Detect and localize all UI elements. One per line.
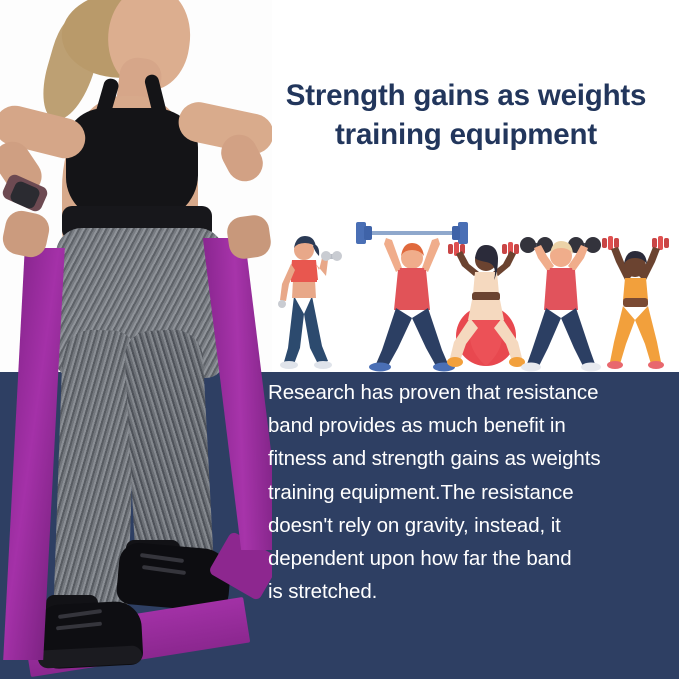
- body-line-5: doesn't rely on gravity, instead, it: [268, 509, 672, 542]
- figure-woman-dumbbell-curl: [278, 236, 342, 369]
- headline: Strength gains as weights training equip…: [264, 76, 668, 154]
- body-line-6: dependent upon how far the band: [268, 542, 672, 575]
- body-text-block: Research has proven that resistance band…: [268, 376, 672, 608]
- dumbbell-icon-1: [321, 251, 342, 261]
- body-line-1: Research has proven that resistance: [268, 376, 672, 409]
- model-hand-right: [225, 213, 272, 260]
- body-line-2: band provides as much benefit in: [268, 409, 672, 442]
- fitness-figures-svg: [278, 214, 679, 374]
- figure-man-shoulder-press: [520, 237, 601, 372]
- barbell-icon: [356, 222, 468, 244]
- headline-line-1: Strength gains as weights: [264, 76, 668, 115]
- body-line-3: fitness and strength gains as weights: [268, 442, 672, 475]
- model-photo: [0, 0, 272, 679]
- fitness-figures-row: [278, 214, 679, 374]
- figure-woman-stability-ball: [447, 242, 525, 367]
- body-line-4: training equipment.The resistance: [268, 476, 672, 509]
- headline-line-2: training equipment: [264, 115, 668, 154]
- body-line-7: is stretched.: [268, 575, 672, 608]
- infographic-stage: Strength gains as weights training equip…: [0, 0, 679, 679]
- figure-woman-arms-raised: [602, 236, 669, 369]
